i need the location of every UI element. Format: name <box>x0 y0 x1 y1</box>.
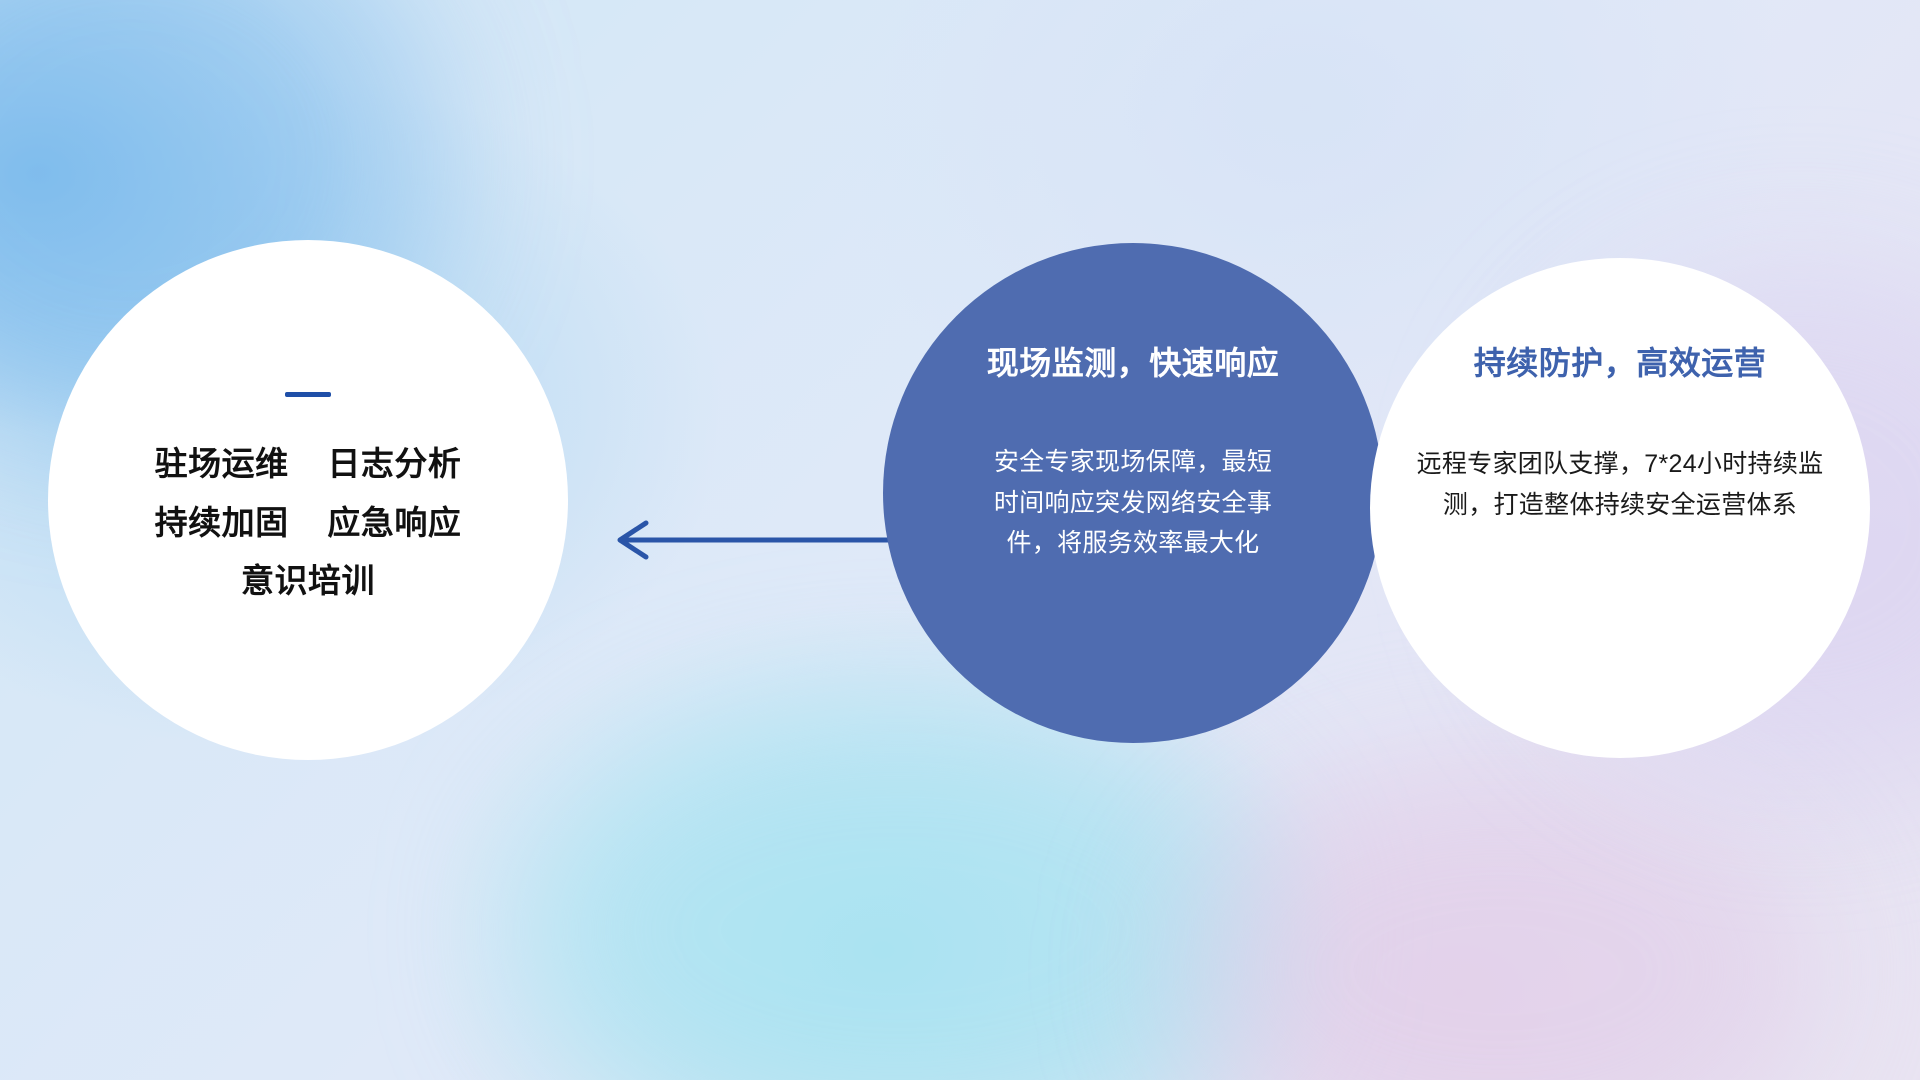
divider-dash-icon <box>285 392 331 397</box>
list-item: 驻场运维 日志分析 <box>48 435 568 494</box>
list-item: 持续加固 应急响应 <box>48 494 568 553</box>
background-glow-bottom-center <box>520 700 1280 1080</box>
middle-onsite-circle[interactable]: 现场监测，快速响应 安全专家现场保障，最短时间响应突发网络安全事件，将服务效率最… <box>883 243 1383 743</box>
slide-canvas: 驻场运维 日志分析 持续加固 应急响应 意识培训 现场监测，快速响应 安全专家现… <box>0 0 1920 1080</box>
middle-circle-body: 安全专家现场保障，最短时间响应突发网络安全事件，将服务效率最大化 <box>983 442 1283 564</box>
background-glow-bottom-right <box>1180 760 1820 1080</box>
right-circle-title: 持续防护，高效运营 <box>1474 338 1767 384</box>
connector-arrow <box>600 510 900 570</box>
right-circle-body: 远程专家团队支撑，7*24小时持续监测，打造整体持续安全运营体系 <box>1410 444 1830 525</box>
middle-circle-title: 现场监测，快速响应 <box>987 338 1280 384</box>
left-service-circle[interactable]: 驻场运维 日志分析 持续加固 应急响应 意识培训 <box>48 240 568 760</box>
list-item: 意识培训 <box>48 552 568 611</box>
left-service-list: 驻场运维 日志分析 持续加固 应急响应 意识培训 <box>48 435 568 611</box>
right-operation-circle[interactable]: 持续防护，高效运营 远程专家团队支撑，7*24小时持续监测，打造整体持续安全运营… <box>1370 258 1870 758</box>
